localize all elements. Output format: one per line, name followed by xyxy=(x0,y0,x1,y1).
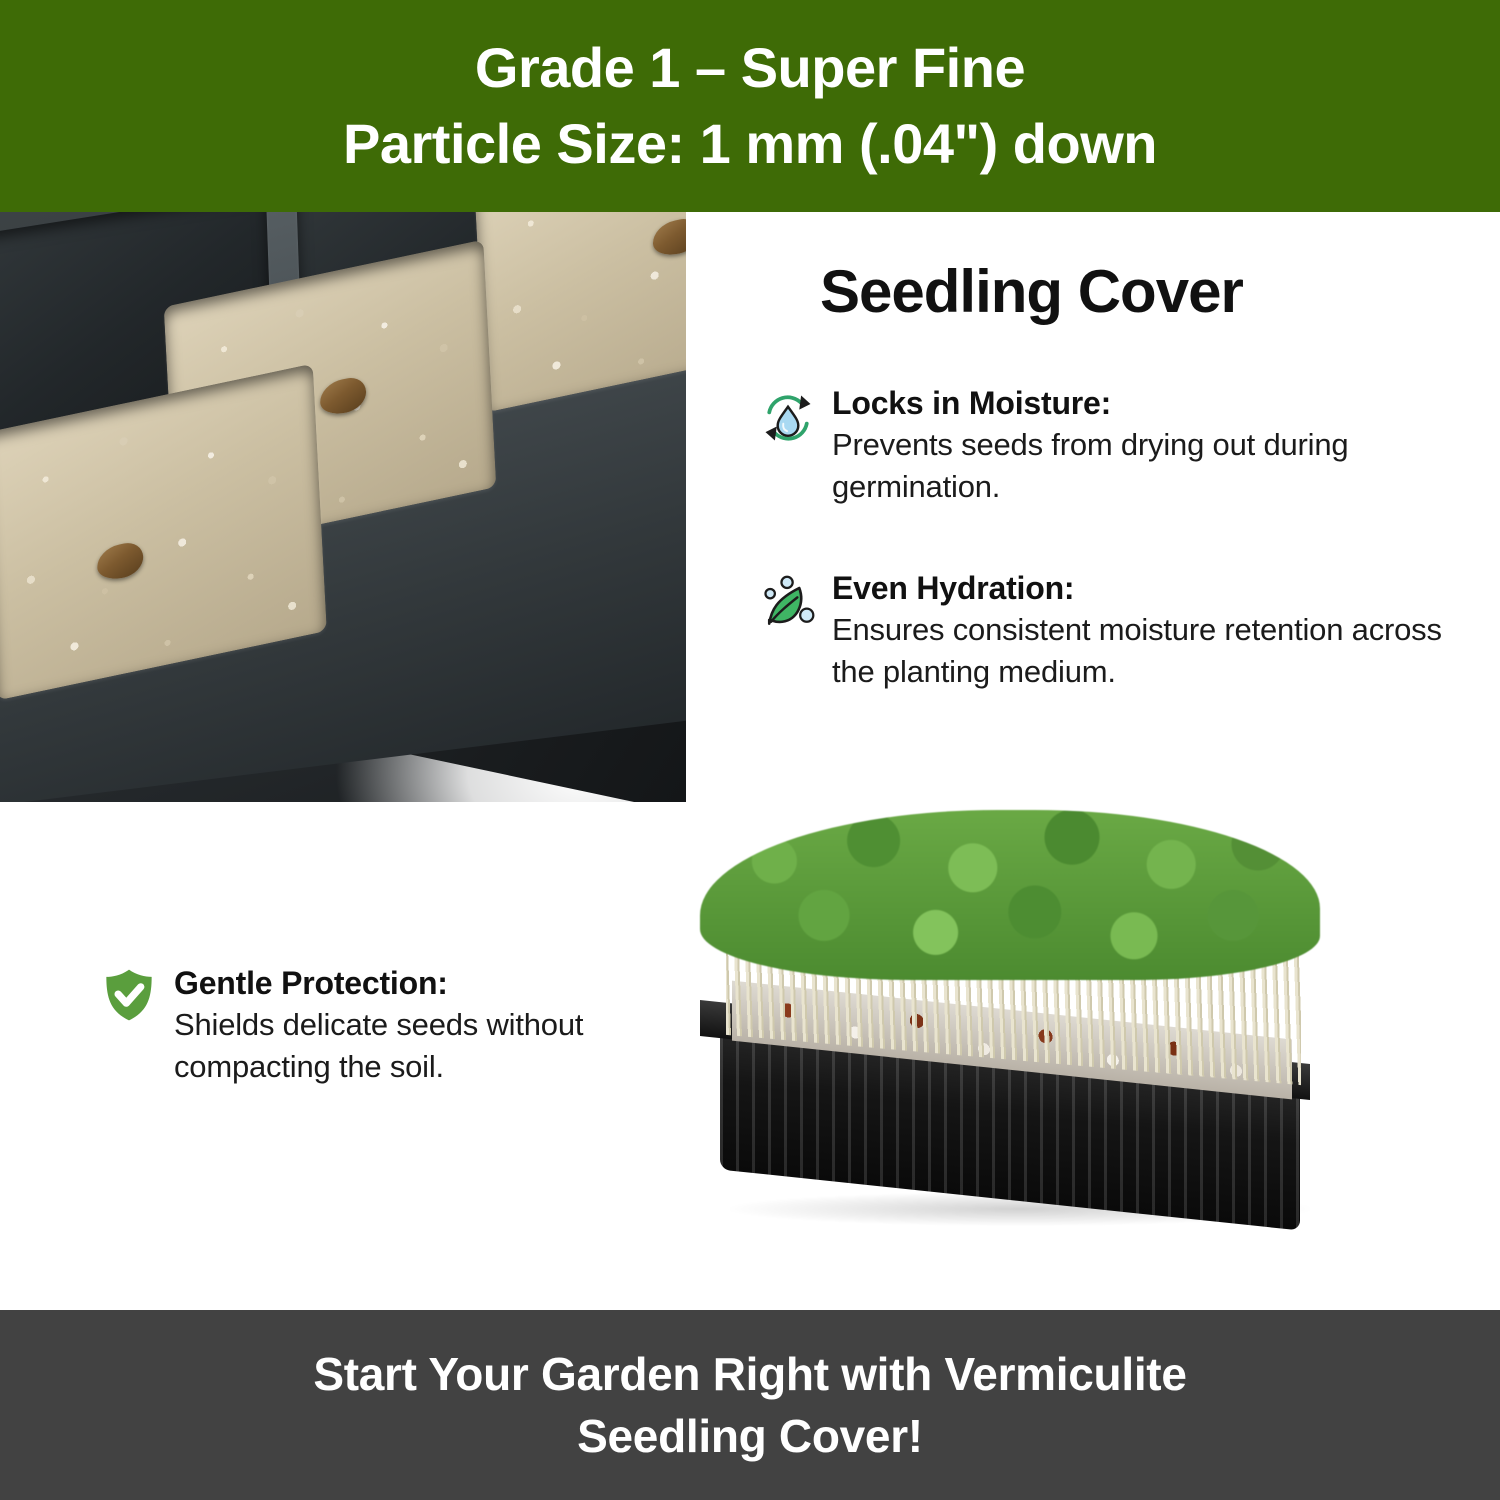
seed xyxy=(320,374,368,417)
feature-text: Locks in Moisture: Prevents seeds from d… xyxy=(832,382,1452,508)
shield-check-icon xyxy=(100,966,158,1029)
feature-locks-in-moisture: Locks in Moisture: Prevents seeds from d… xyxy=(758,382,1452,508)
infographic-page: Grade 1 – Super Fine Particle Size: 1 mm… xyxy=(0,0,1500,1500)
sprout-canopy xyxy=(700,810,1320,980)
header-banner: Grade 1 – Super Fine Particle Size: 1 mm… xyxy=(0,0,1500,212)
seed xyxy=(652,216,686,259)
footer-line-1: Start Your Garden Right with Vermiculite xyxy=(313,1343,1186,1405)
feature-heading: Gentle Protection: xyxy=(174,962,594,1004)
feature-heading: Even Hydration: xyxy=(832,567,1452,609)
seed-tray-photo xyxy=(0,212,686,802)
seed xyxy=(96,540,144,583)
feature-body: Ensures consistent moisture retention ac… xyxy=(832,609,1452,693)
page-title: Seedling Cover xyxy=(820,257,1243,326)
moisture-cycle-icon xyxy=(758,388,818,453)
feature-body: Shields delicate seeds without compactin… xyxy=(174,1004,594,1088)
footer-line-2: Seedling Cover! xyxy=(577,1405,923,1467)
feature-even-hydration: Even Hydration: Ensures consistent moist… xyxy=(758,567,1452,693)
microgreens-photo xyxy=(660,800,1360,1300)
feature-gentle-protection: Gentle Protection: Shields delicate seed… xyxy=(100,962,594,1088)
feature-body: Prevents seeds from drying out during ge… xyxy=(832,424,1452,508)
footer-banner: Start Your Garden Right with Vermiculite… xyxy=(0,1310,1500,1500)
header-line-2: Particle Size: 1 mm (.04") down xyxy=(343,106,1157,182)
header-line-1: Grade 1 – Super Fine xyxy=(475,30,1025,106)
feature-text: Gentle Protection: Shields delicate seed… xyxy=(174,962,594,1088)
features-column: Seedling Cover Locks in Moisture: Preven… xyxy=(700,212,1500,812)
leaf-droplets-icon xyxy=(758,573,818,638)
feature-heading: Locks in Moisture: xyxy=(832,382,1452,424)
feature-text: Even Hydration: Ensures consistent moist… xyxy=(832,567,1452,693)
